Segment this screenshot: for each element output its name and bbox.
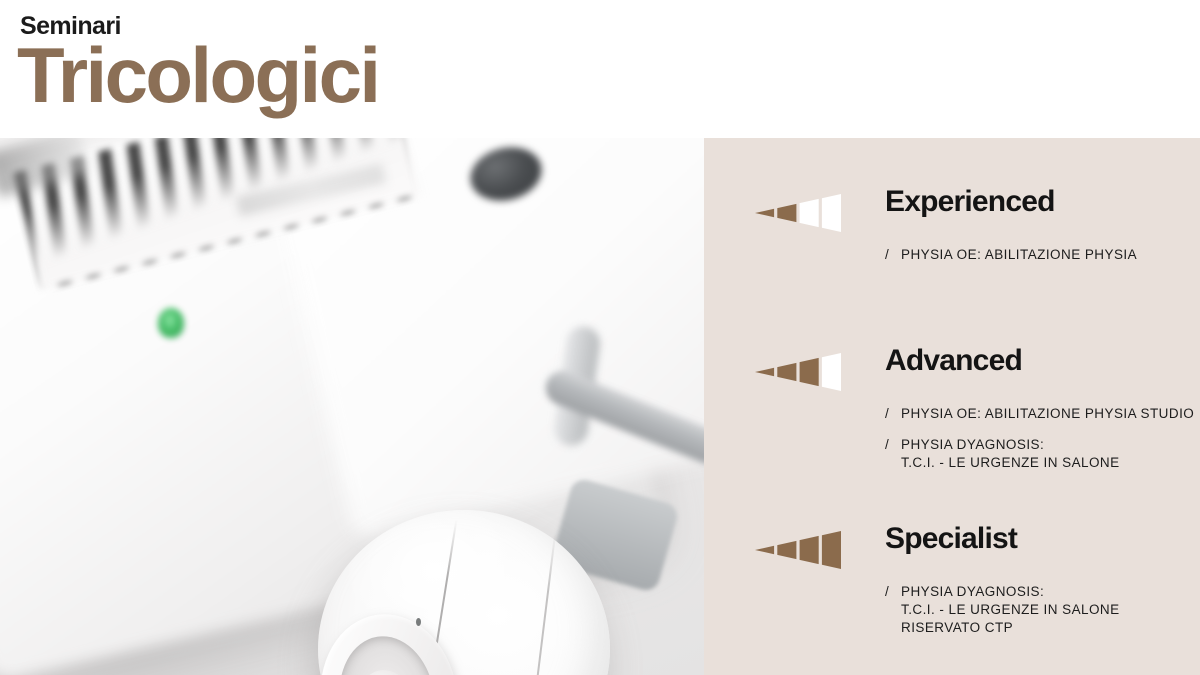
- course-line: T.C.I. - LE URGENZE IN SALONE: [901, 454, 1120, 472]
- probe-head: [318, 510, 610, 675]
- bullet-slash: /: [885, 436, 901, 454]
- tier-header: Experienced: [704, 186, 1200, 238]
- levels-panel: Experienced /PHYSIA OE: ABILITAZIONE PHY…: [704, 138, 1200, 675]
- probe-screw-dot: [416, 618, 421, 626]
- tier-title: Experienced: [885, 184, 1055, 220]
- course-line: T.C.I. - LE URGENZE IN SALONE: [901, 601, 1120, 619]
- course-line: PHYSIA OE: ABILITAZIONE PHYSIA: [901, 246, 1137, 264]
- hero-photo: [0, 138, 704, 675]
- course-label: PHYSIA OE: ABILITAZIONE PHYSIA STUDIO: [901, 405, 1194, 423]
- bullet-slash: /: [885, 405, 901, 423]
- course-line: PHYSIA DYAGNOSIS:: [901, 583, 1120, 601]
- tier-header: Advanced: [704, 345, 1200, 397]
- tier-header: Specialist: [704, 523, 1200, 575]
- course-label: PHYSIA DYAGNOSIS:T.C.I. - LE URGENZE IN …: [901, 436, 1120, 472]
- course-line: PHYSIA DYAGNOSIS:: [901, 436, 1120, 454]
- tier-specialist[interactable]: Specialist /PHYSIA DYAGNOSIS:T.C.I. - LE…: [704, 523, 1200, 650]
- level-arrow-icon: [755, 353, 841, 391]
- bullet-slash: /: [885, 246, 901, 264]
- tier-course-list: /PHYSIA OE: ABILITAZIONE PHYSIA STUDIO/P…: [704, 405, 1200, 472]
- course-line: PHYSIA OE: ABILITAZIONE PHYSIA STUDIO: [901, 405, 1194, 423]
- tier-title: Advanced: [885, 343, 1022, 379]
- page-title: Tricologici: [17, 36, 378, 114]
- level-arrow-icon: [755, 194, 841, 232]
- tier-course-list: /PHYSIA OE: ABILITAZIONE PHYSIA: [704, 246, 1200, 264]
- course-line: RISERVATO CTP: [901, 619, 1120, 637]
- course-item[interactable]: /PHYSIA DYAGNOSIS:T.C.I. - LE URGENZE IN…: [885, 583, 1200, 637]
- course-label: PHYSIA DYAGNOSIS:T.C.I. - LE URGENZE IN …: [901, 583, 1120, 637]
- course-item[interactable]: /PHYSIA OE: ABILITAZIONE PHYSIA STUDIO: [885, 405, 1200, 423]
- tier-course-list: /PHYSIA DYAGNOSIS:T.C.I. - LE URGENZE IN…: [704, 583, 1200, 637]
- device-green-indicator-led: [158, 308, 184, 338]
- tier-advanced[interactable]: Advanced /PHYSIA OE: ABILITAZIONE PHYSIA…: [704, 345, 1200, 485]
- tier-title: Specialist: [885, 521, 1017, 557]
- course-label: PHYSIA OE: ABILITAZIONE PHYSIA: [901, 246, 1137, 264]
- header-band: Seminari Tricologici: [0, 0, 1200, 138]
- course-item[interactable]: /PHYSIA DYAGNOSIS:T.C.I. - LE URGENZE IN…: [885, 436, 1200, 472]
- bullet-slash: /: [885, 583, 901, 601]
- tier-experienced[interactable]: Experienced /PHYSIA OE: ABILITAZIONE PHY…: [704, 186, 1200, 277]
- course-item[interactable]: /PHYSIA OE: ABILITAZIONE PHYSIA: [885, 246, 1200, 264]
- level-arrow-icon: [755, 531, 841, 569]
